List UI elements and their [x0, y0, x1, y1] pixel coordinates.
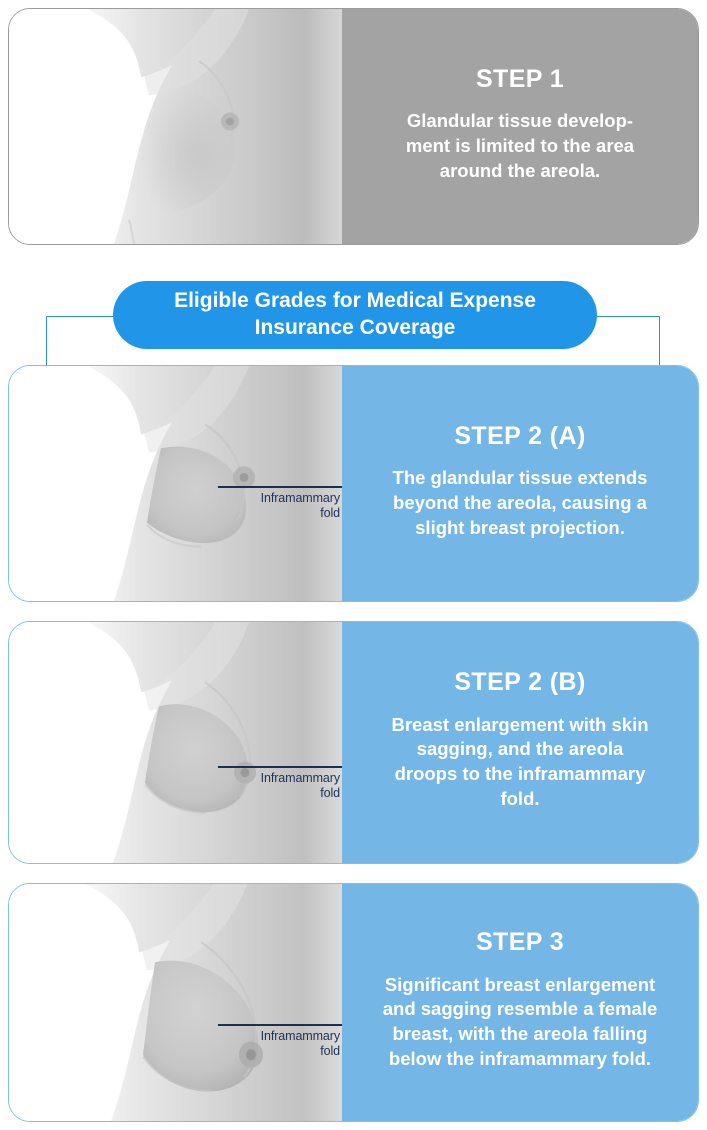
photo-step-1	[9, 9, 342, 244]
desc-line: ment is limited to the area	[406, 135, 634, 156]
desc-line: droops to the inframammary	[395, 763, 646, 784]
step-title: STEP 2 (B)	[454, 669, 585, 697]
photo-step-3: Inframammary fold	[9, 884, 342, 1121]
desc-line: fold.	[500, 788, 539, 809]
desc-line: Glandular tissue develop-	[407, 110, 633, 131]
step-title: STEP 3	[476, 929, 564, 957]
step-title: STEP 1	[476, 66, 564, 94]
card-step-1: STEP 1 Glandular tissue develop- ment is…	[8, 8, 699, 245]
desc-line: Significant breast enlargement	[385, 974, 655, 995]
panel-step-2a: STEP 2 (A) The glandular tissue extends …	[342, 366, 698, 601]
step-title: STEP 2 (A)	[454, 423, 585, 451]
desc-line: beyond the areola, causing a	[393, 492, 647, 513]
panel-step-2b: STEP 2 (B) Breast enlargement with skin …	[342, 622, 698, 863]
desc-line: and sagging resemble a female	[383, 998, 658, 1019]
card-step-3: Inframammary fold STEP 3 Significant bre…	[8, 883, 699, 1122]
step-description: Glandular tissue develop- ment is limite…	[406, 109, 634, 183]
desc-line: sagging, and the areola	[417, 738, 624, 759]
panel-step-1: STEP 1 Glandular tissue develop- ment is…	[342, 9, 698, 244]
step-description: The glandular tissue extends beyond the …	[393, 466, 648, 540]
desc-line: The glandular tissue extends	[393, 467, 648, 488]
desc-line: breast, with the areola falling	[393, 1023, 648, 1044]
photo-step-2a: Inframammary fold	[9, 366, 342, 601]
card-step-2a: Inframammary fold STEP 2 (A) The glandul…	[8, 365, 699, 602]
desc-line: around the areola.	[440, 160, 600, 181]
desc-line: slight breast projection.	[415, 517, 625, 538]
desc-line: below the inframammary fold.	[389, 1048, 651, 1069]
step-description: Breast enlargement with skin sagging, an…	[391, 713, 648, 812]
banner-text: Eligible Grades for Medical Expense Insu…	[174, 288, 536, 342]
panel-step-3: STEP 3 Significant breast enlargement an…	[342, 884, 698, 1121]
step-description: Significant breast enlargement and saggi…	[383, 973, 658, 1072]
banner-line-2: Insurance Coverage	[255, 316, 456, 339]
desc-line: Breast enlargement with skin	[391, 714, 648, 735]
banner-line-1: Eligible Grades for Medical Expense	[174, 289, 536, 312]
card-step-2b: Inframammary fold STEP 2 (B) Breast enla…	[8, 621, 699, 864]
eligibility-banner: Eligible Grades for Medical Expense Insu…	[113, 281, 597, 349]
photo-step-2b: Inframammary fold	[9, 622, 342, 863]
